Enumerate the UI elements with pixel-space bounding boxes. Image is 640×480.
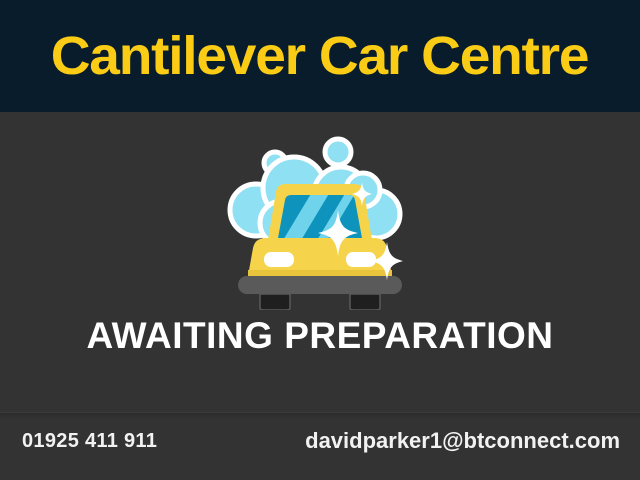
car-body-group: [248, 238, 392, 278]
contact-phone[interactable]: 01925 411 911: [22, 431, 157, 451]
contact-email[interactable]: davidparker1@btconnect.com: [305, 430, 620, 452]
vehicle-placeholder-card: Cantilever Car Centre: [0, 0, 640, 480]
footer-bar: 01925 411 911 davidparker1@btconnect.com: [0, 412, 640, 480]
headlight-left: [264, 252, 294, 267]
bumper: [238, 276, 402, 294]
headlight-right: [346, 252, 376, 267]
footer-divider: [0, 413, 640, 419]
header-banner: Cantilever Car Centre: [0, 0, 640, 112]
wheels-group: [260, 294, 380, 310]
car-wash-icon: [220, 130, 420, 310]
main-body-area: AWAITING PREPARATION: [0, 112, 640, 412]
status-text: AWAITING PREPARATION: [0, 317, 640, 354]
brand-title: Cantilever Car Centre: [51, 29, 589, 83]
